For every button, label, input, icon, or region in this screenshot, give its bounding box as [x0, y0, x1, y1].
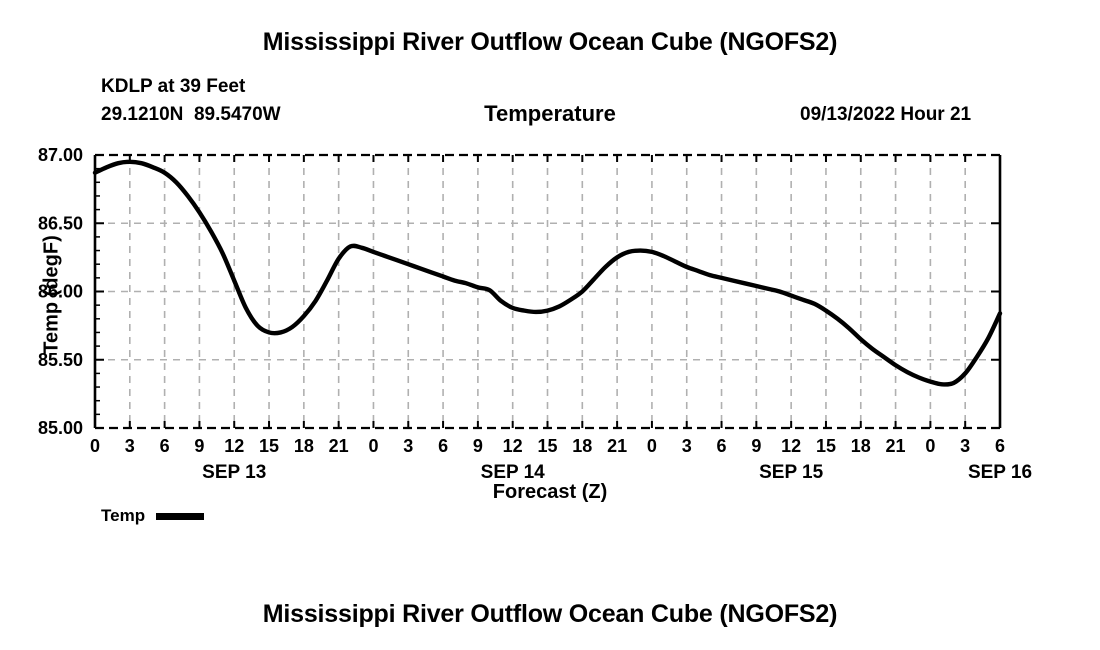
x-tick-label: 0 [647, 436, 657, 456]
x-tick-label: 12 [224, 436, 244, 456]
legend-label-temp: Temp [101, 506, 145, 526]
x-tick-label: 6 [160, 436, 170, 456]
x-tick-label: 0 [90, 436, 100, 456]
x-tick-label: 15 [816, 436, 836, 456]
x-tick-label: 3 [403, 436, 413, 456]
day-label: SEP 16 [968, 462, 1032, 483]
x-axis-day-labels: SEP 13SEP 14SEP 15SEP 16 [202, 462, 1032, 483]
chart-title-top: Mississippi River Outflow Ocean Cube (NG… [0, 28, 1100, 57]
day-label: SEP 14 [481, 462, 546, 483]
x-tick-label: 18 [294, 436, 314, 456]
x-tick-label: 21 [329, 436, 349, 456]
legend: Temp [101, 506, 204, 526]
x-tick-label: 18 [572, 436, 592, 456]
station-depth-label: KDLP at 39 Feet [101, 76, 245, 98]
day-label: SEP 13 [202, 462, 266, 483]
x-tick-label: 12 [781, 436, 801, 456]
chart-title-bottom: Mississippi River Outflow Ocean Cube (NG… [0, 600, 1100, 629]
x-tick-label: 21 [607, 436, 627, 456]
x-tick-label: 0 [925, 436, 935, 456]
x-tick-label: 18 [851, 436, 871, 456]
x-tick-label: 3 [960, 436, 970, 456]
chart-figure: Mississippi River Outflow Ocean Cube (NG… [0, 0, 1100, 650]
forecast-cycle-label: 09/13/2022 Hour 21 [800, 104, 971, 126]
x-tick-label: 9 [194, 436, 204, 456]
x-axis-title: Forecast (Z) [0, 481, 1100, 504]
x-tick-label: 0 [368, 436, 378, 456]
x-tick-label: 9 [473, 436, 483, 456]
x-axis-tick-labels: 036912151821036912151821036912151821036 [90, 436, 1005, 456]
x-tick-label: 15 [259, 436, 279, 456]
x-tick-label: 15 [537, 436, 557, 456]
x-tick-label: 6 [717, 436, 727, 456]
x-tick-label: 6 [438, 436, 448, 456]
x-tick-label: 3 [125, 436, 135, 456]
x-tick-label: 3 [682, 436, 692, 456]
y-axis-title: Temp (degF) [41, 155, 64, 435]
x-tick-label: 6 [995, 436, 1005, 456]
x-tick-label: 12 [503, 436, 523, 456]
day-label: SEP 15 [759, 462, 824, 483]
x-tick-label: 21 [886, 436, 906, 456]
x-tick-label: 9 [751, 436, 761, 456]
legend-swatch-temp [156, 513, 204, 520]
